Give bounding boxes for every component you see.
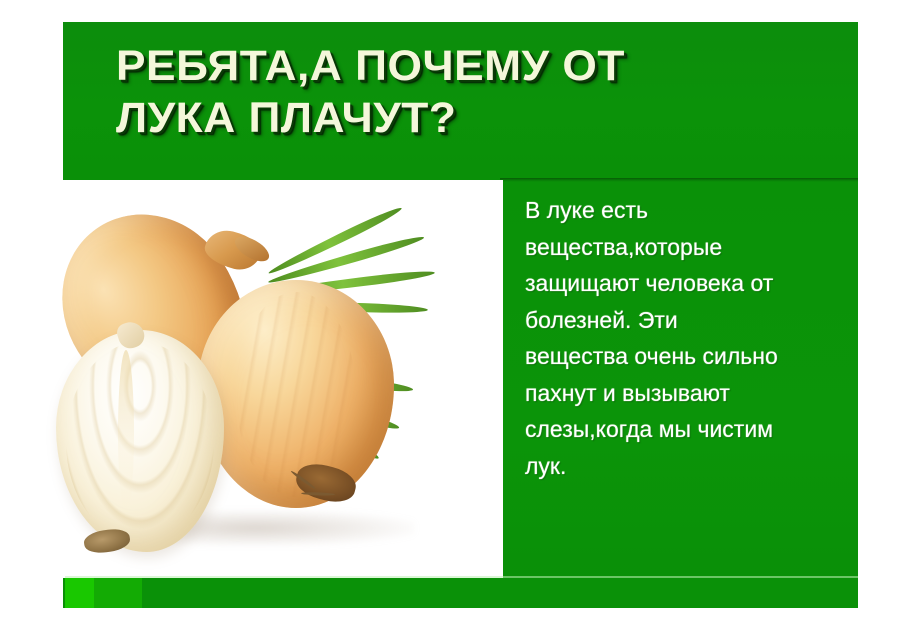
slide-title-band: РЕБЯТА,А ПОЧЕМУ ОТ ЛУКА ПЛАЧУТ? xyxy=(63,22,858,180)
bottom-accent-bar xyxy=(65,578,858,608)
onion-right-skin-lines xyxy=(236,292,356,497)
accent-segment-main xyxy=(142,578,858,608)
accent-segment-mid xyxy=(94,578,142,608)
onion-photo-panel xyxy=(0,180,503,578)
slide-canvas: РЕБЯТА,А ПОЧЕМУ ОТ ЛУКА ПЛАЧУТ? xyxy=(0,0,910,644)
onion-photo xyxy=(0,180,503,578)
onion-cut-half-core xyxy=(118,350,134,515)
onion-cut-half-rings xyxy=(66,342,214,542)
onion-cut-half-root xyxy=(83,527,132,555)
accent-segment-bright xyxy=(65,578,94,608)
slide-title: РЕБЯТА,А ПОЧЕМУ ОТ ЛУКА ПЛАЧУТ? xyxy=(116,40,837,144)
slide-body-text: В луке есть вещества,которые защищают че… xyxy=(525,192,855,484)
title-separator-line xyxy=(500,178,858,182)
